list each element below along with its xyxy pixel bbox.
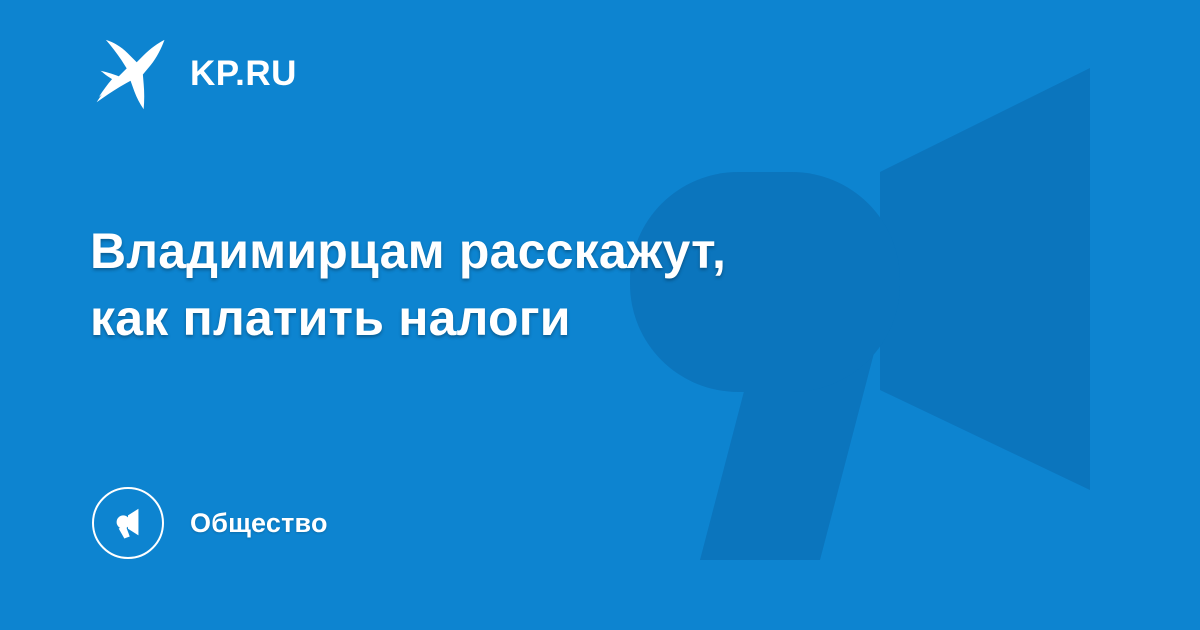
social-share-card: KP.RU Владимирцам расскажут, как платить… bbox=[0, 0, 1200, 630]
category-badge[interactable]: Общество bbox=[92, 487, 328, 559]
swallow-bird-logo-icon bbox=[90, 36, 168, 110]
megaphone-icon bbox=[109, 504, 147, 542]
category-icon-circle bbox=[92, 487, 164, 559]
headline-title: Владимирцам расскажут, как платить налог… bbox=[90, 218, 890, 352]
category-label: Общество bbox=[190, 510, 328, 537]
brand-logo[interactable]: KP.RU bbox=[90, 36, 297, 110]
brand-wordmark: KP.RU bbox=[190, 56, 297, 91]
